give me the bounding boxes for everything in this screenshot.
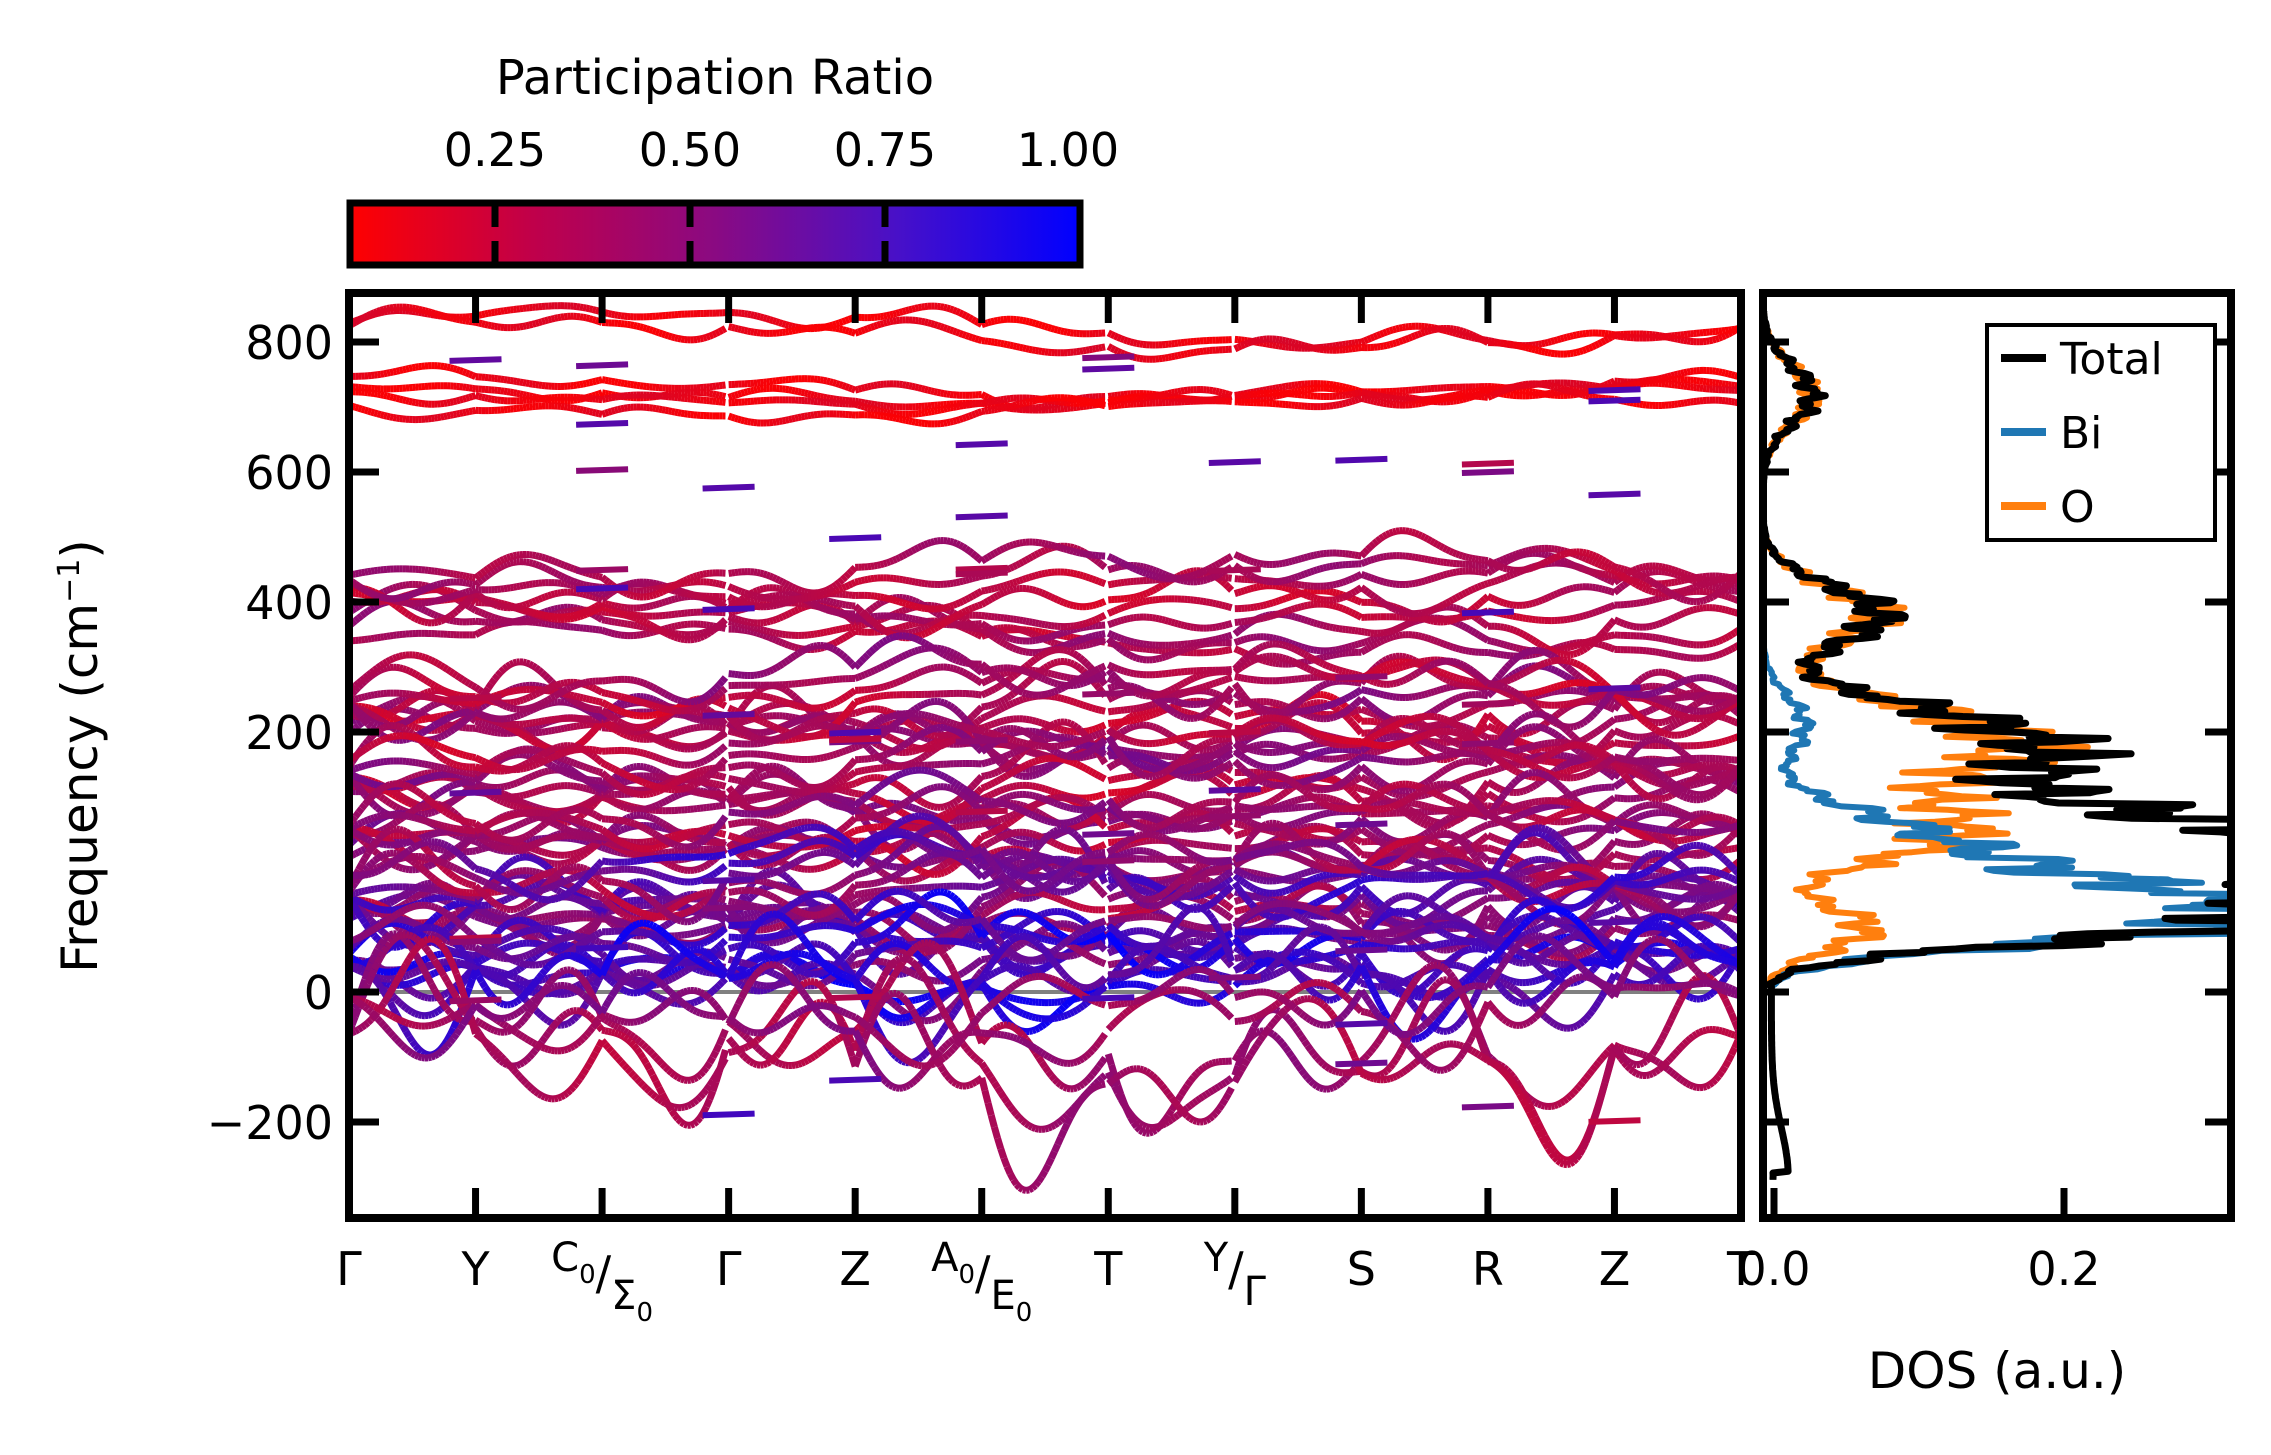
band-ytick-m200: −200 <box>207 1096 333 1150</box>
ylabel-close: ) <box>51 539 109 559</box>
band-xtick-6: T <box>1093 1242 1123 1296</box>
figure-canvas: Participation Ratio 0.25 0.50 0.75 1.00 <box>0 0 2271 1455</box>
colorbar-tick-1: 0.50 <box>639 123 741 177</box>
band-xtick-10: Z <box>1599 1242 1631 1296</box>
ylabel-main: Frequency (cm <box>51 603 109 973</box>
dos-x-axis-label: DOS (a.u.) <box>1868 1342 2127 1400</box>
band-xtick-8: S <box>1347 1242 1376 1296</box>
dos-xtick-0: 0.0 <box>1737 1242 1810 1296</box>
colorbar-gradient[interactable] <box>350 203 1080 265</box>
band-ytick-600: 600 <box>245 446 333 500</box>
colorbar-title: Participation Ratio <box>496 50 934 106</box>
band-xtick-1: Y <box>460 1242 490 1296</box>
band-xtick-0: Γ <box>336 1242 362 1296</box>
band-xtick-4: Z <box>839 1242 871 1296</box>
band-ytick-0: 0 <box>304 966 333 1020</box>
phonon-figure: Participation Ratio 0.25 0.50 0.75 1.00 <box>0 0 2271 1455</box>
colorbar-tick-0: 0.25 <box>444 123 546 177</box>
colorbar-tick-3: 1.00 <box>1017 123 1119 177</box>
band-xtick-3: Γ <box>716 1242 742 1296</box>
band-ytick-200: 200 <box>245 706 333 760</box>
ylabel-superscript: −1 <box>52 559 87 603</box>
colorbar-tick-2: 0.75 <box>834 123 936 177</box>
band-y-axis-label: Frequency (cm−1) <box>51 539 109 973</box>
legend-label-bi: Bi <box>2060 408 2102 459</box>
dos-legend: Total Bi O <box>1987 325 2215 540</box>
band-ytick-400: 400 <box>245 576 333 630</box>
legend-label-o: O <box>2060 482 2095 533</box>
dos-xtick-1: 0.2 <box>2027 1242 2100 1296</box>
band-ytick-800: 800 <box>245 316 333 370</box>
band-xtick-9: R <box>1472 1242 1504 1296</box>
legend-label-total: Total <box>2059 334 2163 385</box>
